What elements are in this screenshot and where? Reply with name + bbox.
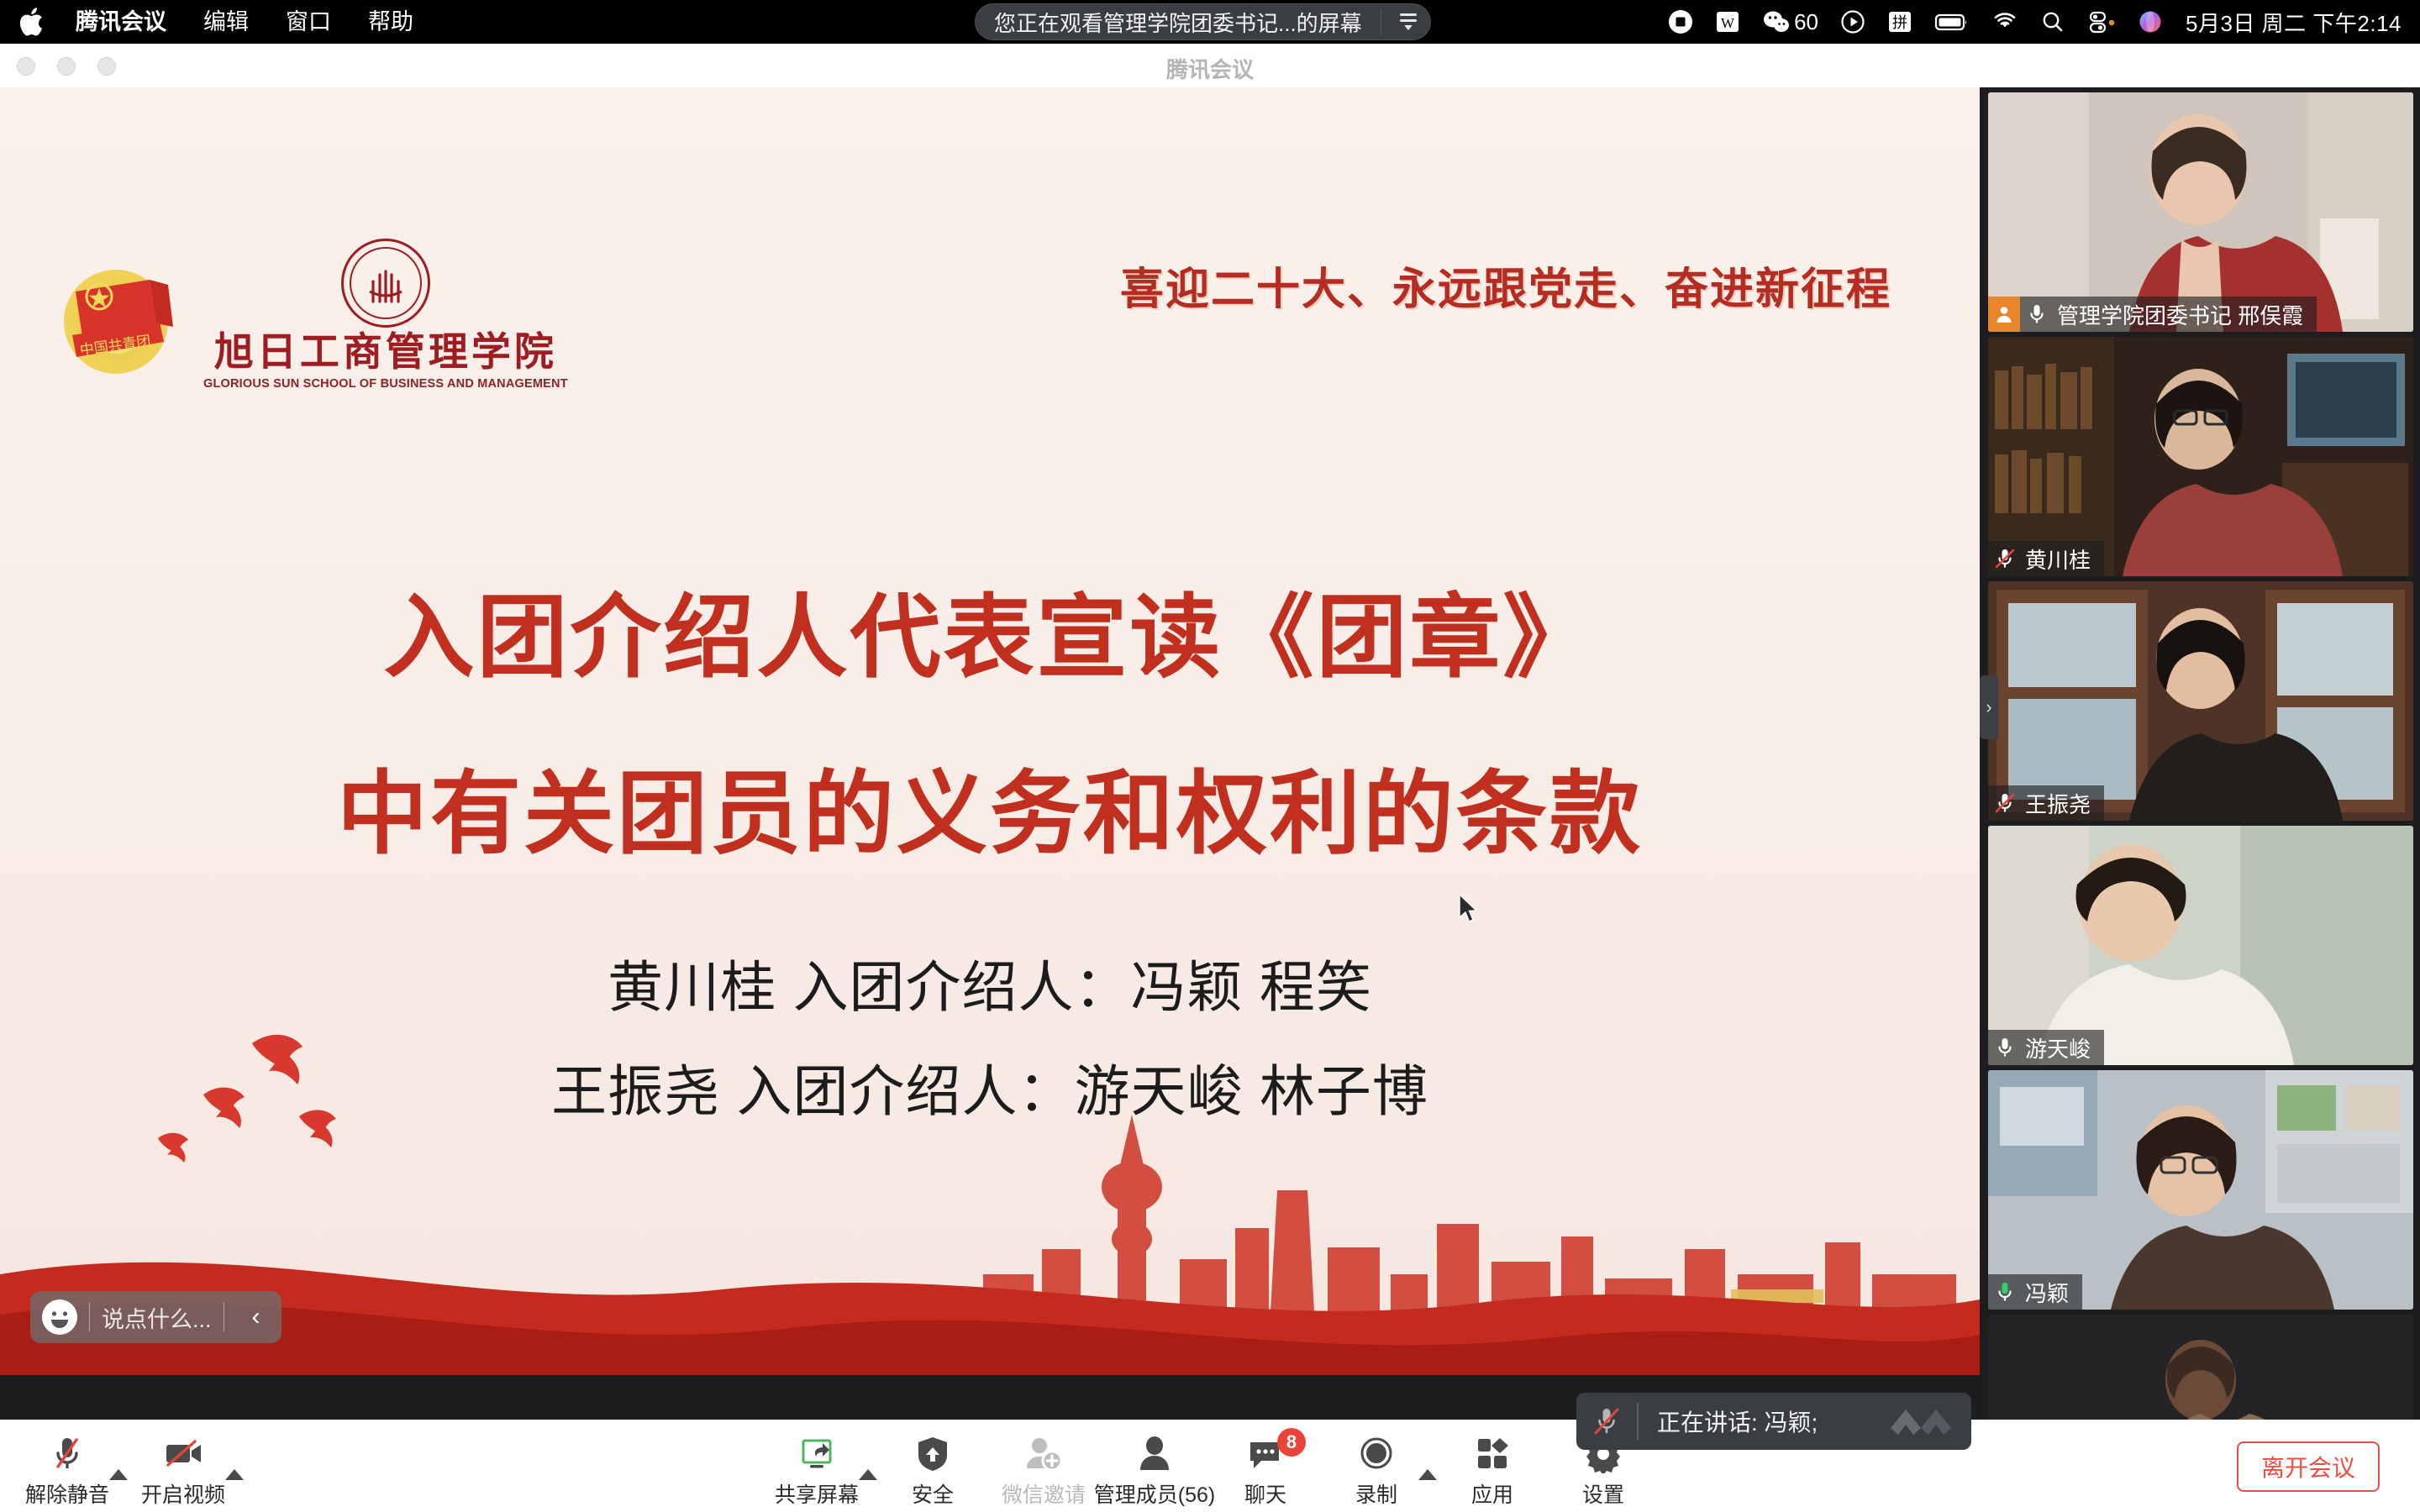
participant-tile[interactable]: 游天峻 [1988,826,2413,1065]
chat-unread-badge: 8 [1277,1428,1306,1457]
leave-meeting-button[interactable]: 离开会议 [2237,1441,2380,1492]
mic-muted-icon [1988,548,2022,570]
participant-tile[interactable]: 王振尧 [1988,581,2413,821]
participant-name: 黄川桂 [2022,543,2091,575]
security-button[interactable]: 安全 [877,1428,988,1509]
start-video-button[interactable]: 开启视频 [128,1428,239,1509]
mic-on-icon [1988,1037,2022,1058]
apple-logo-icon[interactable] [18,5,47,39]
participant-label: 王振尧 [1988,785,2104,821]
participant-tile[interactable]: 冯颖 [1988,1070,2413,1310]
participant-video-sidebar[interactable]: 管理学院团委书记 邢俣霞 [1980,87,2420,1420]
chat-divider-2 [224,1303,224,1331]
wechat-invite-button[interactable]: 微信邀请 [988,1428,1099,1509]
unmute-button[interactable]: 解除静音 [12,1428,123,1509]
toolbar-center-group: 共享屏幕 安全 微信邀请 管理成员(56) 8 聊天 [761,1428,1659,1509]
spotlight-search-icon[interactable] [2029,0,2076,44]
active-speaker-toast: 正在讲话: 冯颖; [1576,1393,1971,1450]
sidebar-collapse-handle[interactable]: › [1980,675,1998,739]
donghua-university-logo: 旭日工商管理学院 GLORIOUS SUN SCHOOL OF BUSINESS… [203,239,568,391]
menu-item-app[interactable]: 腾讯会议 [57,0,185,44]
wechat-icon[interactable]: 60 [1751,0,1829,44]
media-play-icon[interactable] [1829,0,1876,44]
apps-label: 应用 [1471,1478,1513,1509]
mic-on-icon [2020,303,2054,325]
tencent-meeting-logo [1887,1399,1960,1443]
school-name-cn: 旭日工商管理学院 [214,333,557,374]
apps-grid-icon [1473,1433,1512,1473]
record-label: 录制 [1355,1478,1397,1509]
control-center-icon[interactable] [2076,0,2127,44]
wifi-icon[interactable] [1981,0,2029,44]
host-badge-icon [1988,297,2020,332]
mic-active-icon [1988,1281,2022,1303]
mic-muted-icon [1988,792,2022,814]
participant-label: 管理学院团委书记 邢俣霞 [1988,297,2317,332]
participant-label: 游天峻 [1988,1030,2104,1065]
chat-divider [89,1303,90,1331]
unmute-label: 解除静音 [25,1478,109,1509]
participant-tile[interactable]: 管理学院团委书记 邢俣霞 [1988,92,2413,332]
chat-label: 聊天 [1244,1478,1286,1509]
wechat-badge-count: 60 [1794,9,1818,35]
siri-icon[interactable] [2127,0,2174,44]
screen-share-status-pill[interactable]: 您正在观看管理学院团委书记...的屏幕 [975,3,1431,40]
shared-screen-viewport[interactable]: 中国共青团 旭日工商管理学院 GLORIOUS SUN SCHOOL OF BU… [0,87,1980,1375]
participant-name: 游天峻 [2022,1032,2091,1063]
menu-item-window[interactable]: 窗口 [267,0,350,44]
menu-bar-left: 腾讯会议 编辑 窗口 帮助 [0,0,432,44]
meeting-toolbar: 解除静音 开启视频 共享屏幕 安全 微信邀请 [0,1420,2420,1512]
start-video-label: 开启视频 [141,1478,225,1509]
share-screen-button[interactable]: 共享屏幕 [761,1428,872,1509]
participant-name: 冯颖 [2022,1277,2069,1308]
chevron-right-icon: › [1986,696,1991,718]
share-screen-icon [797,1433,836,1473]
toolbar-left-group: 解除静音 开启视频 [12,1428,244,1509]
participant-label: 黄川桂 [1988,541,2104,576]
mic-muted-icon [1576,1406,1637,1436]
slide-logo-group: 中国共青团 旭日工商管理学院 GLORIOUS SUN SCHOOL OF BU… [50,239,568,391]
presentation-slide: 中国共青团 旭日工商管理学院 GLORIOUS SUN SCHOOL OF BU… [0,87,1980,1375]
menu-bar-clock[interactable]: 5月3日 周二 下午2:14 [2174,7,2405,38]
security-label: 安全 [912,1478,954,1509]
manage-participants-button[interactable]: 管理成员(56) [1099,1428,1210,1509]
menu-item-help[interactable]: 帮助 [350,0,432,44]
settings-label: 设置 [1582,1478,1624,1509]
chat-button[interactable]: 8 聊天 [1210,1428,1321,1509]
university-seal-icon [341,239,430,328]
shield-icon [915,1433,950,1473]
communist-youth-league-emblem-icon: 中国共青团 [50,248,185,382]
pinyin-input-icon[interactable]: 拼 [1876,0,1923,44]
slide-body-line-2: 王振尧 入团介绍人：游天峻 林子博 [0,1047,1980,1127]
person-icon [1136,1433,1173,1473]
hamburger-menu-icon[interactable] [1390,13,1427,30]
share-screen-label: 共享屏幕 [775,1478,859,1509]
slide-body-line-1: 黄川桂 入团介绍人：冯颖 程笑 [0,942,1980,1023]
manage-participants-label: 管理成员(56) [1094,1478,1215,1509]
participant-label: 冯颖 [1988,1274,2082,1310]
active-speaker-text: 正在讲话: 冯颖; [1639,1404,1818,1438]
menu-item-edit[interactable]: 编辑 [185,0,267,44]
svg-text:W: W [1721,15,1735,31]
video-muted-icon [161,1433,205,1473]
wps-office-icon[interactable]: W [1704,0,1751,44]
record-button[interactable]: 录制 [1321,1428,1432,1509]
smiley-face-icon[interactable] [42,1299,77,1335]
slide-title-line-2: 中有关团员的义务和权利的条款 [0,741,1980,872]
screen-record-icon[interactable] [1657,0,1704,44]
menu-bar-status-tray: W 60 拼 5月3日 周二 下午2:14 [1657,0,2405,44]
leave-meeting-label: 离开会议 [2261,1450,2355,1483]
mac-menu-bar: 腾讯会议 编辑 窗口 帮助 您正在观看管理学院团委书记...的屏幕 W 60 拼 [0,0,2420,44]
participant-name: 管理学院团委书记 邢俣霞 [2054,299,2303,330]
share-status-text: 您正在观看管理学院团委书记...的屏幕 [994,7,1362,38]
school-name-en: GLORIOUS SUN SCHOOL OF BUSINESS AND MANA… [203,377,568,391]
battery-icon[interactable] [1923,0,1981,44]
inline-chat-input-bar[interactable]: 说点什么... ‹ [30,1291,281,1343]
pill-divider [1381,9,1381,34]
participant-tile[interactable]: 黄川桂 [1988,337,2413,576]
add-person-icon [1024,1433,1063,1473]
wechat-invite-label: 微信邀请 [1002,1478,1086,1509]
slide-slogan: 喜迎二十大、永远跟党走、奋进新征程 [1120,254,1891,317]
chat-input-placeholder[interactable]: 说点什么... [102,1301,212,1334]
meeting-stage: 中国共青团 旭日工商管理学院 GLORIOUS SUN SCHOOL OF BU… [0,87,2420,1420]
svg-text:拼: 拼 [1892,14,1907,31]
mouse-cursor [1458,894,1480,924]
apps-button[interactable]: 应用 [1437,1428,1548,1509]
window-titlebar: 腾讯会议 [0,44,2420,87]
chevron-left-icon[interactable]: ‹ [236,1303,276,1331]
window-title: 腾讯会议 [0,53,2420,84]
slide-title-line-1: 入团介绍人代表宣读《团章》 [0,564,1980,696]
record-circle-icon [1357,1433,1396,1473]
participant-name: 王振尧 [2022,788,2091,819]
mic-muted-icon [47,1433,87,1473]
